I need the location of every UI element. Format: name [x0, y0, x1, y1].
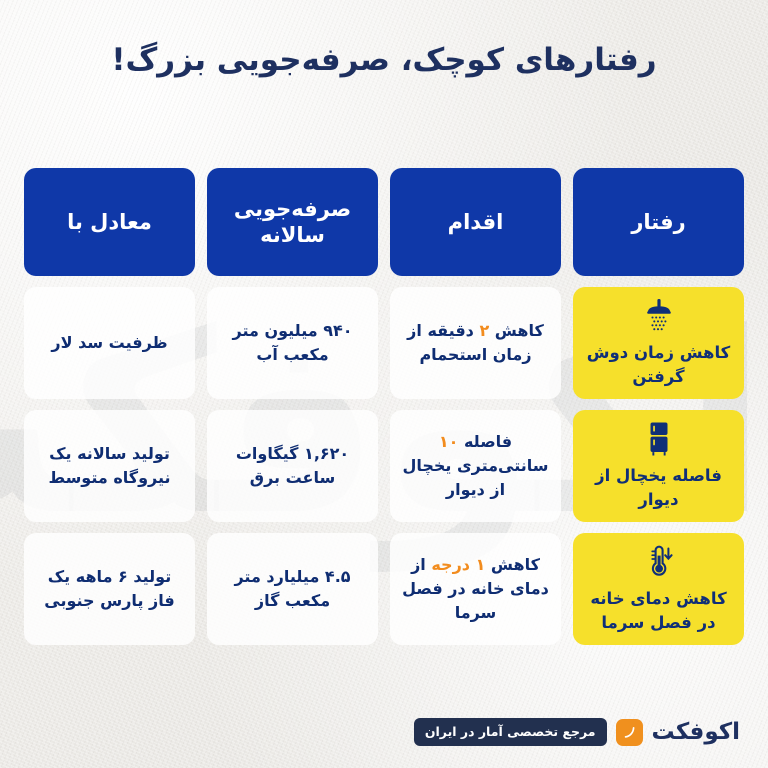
infographic-page: اکوفکت رفتارهای کوچک، صرفه‌جویی بزرگ! رف…: [0, 0, 768, 768]
action-prefix: فاصله: [458, 432, 512, 451]
behavior-label: کاهش دمای خانه در فصل سرما: [582, 587, 735, 635]
action-cell-shower: کاهش ۲ دقیقه از زمان استحمام: [390, 287, 561, 399]
action-number: ۱ درجه: [431, 555, 485, 574]
action-number: ۲: [479, 321, 489, 340]
action-text: فاصله ۱۰ سانتی‌متری یخچال از دیوار: [399, 430, 552, 502]
behavior-cell-temperature: کاهش دمای خانه در فصل سرما: [573, 533, 744, 645]
behavior-cell-shower: کاهش زمان دوش گرفتن: [573, 287, 744, 399]
shower-head-icon: [642, 298, 676, 334]
refrigerator-icon: [644, 421, 674, 457]
footer-tagline: مرجع تخصصی آمار در ایران: [414, 718, 607, 746]
brand-name: اکوفکت: [652, 719, 740, 745]
thermometer-down-icon: [642, 544, 676, 580]
equivalent-cell-south-pars: تولید ۶ ماهه یک فاز پارس جنوبی: [24, 533, 195, 645]
table-header-annual-saving: صرفه‌جویی سالانه: [207, 168, 378, 276]
behavior-cell-refrigerator: فاصله یخچال از دیوار: [573, 410, 744, 522]
equivalent-cell-power-plant: تولید سالانه یک نیروگاه متوسط: [24, 410, 195, 522]
action-cell-refrigerator: فاصله ۱۰ سانتی‌متری یخچال از دیوار: [390, 410, 561, 522]
action-text: کاهش ۲ دقیقه از زمان استحمام: [399, 319, 552, 367]
logo-icon: [616, 719, 643, 746]
footer-bar: اکوفکت مرجع تخصصی آمار در ایران: [28, 718, 740, 746]
behavior-label: کاهش زمان دوش گرفتن: [582, 341, 735, 389]
behavior-label: فاصله یخچال از دیوار: [582, 464, 735, 512]
action-suffix: سانتی‌متری یخچال از دیوار: [402, 456, 548, 499]
action-cell-temperature: کاهش ۱ درجه از دمای خانه در فصل سرما: [390, 533, 561, 645]
action-prefix: کاهش: [489, 321, 544, 340]
saving-cell-water: ۹۴۰ میلیون متر مکعب آب: [207, 287, 378, 399]
table-header-equivalent: معادل با: [24, 168, 195, 276]
table-header-behavior: رفتار: [573, 168, 744, 276]
page-title: رفتارهای کوچک، صرفه‌جویی بزرگ!: [0, 40, 768, 82]
saving-cell-gas: ۴.۵ میلیارد متر مکعب گاز: [207, 533, 378, 645]
action-text: کاهش ۱ درجه از دمای خانه در فصل سرما: [399, 553, 552, 625]
equivalent-cell-lar-dam: ظرفیت سد لار: [24, 287, 195, 399]
action-number: ۱۰: [439, 432, 459, 451]
table-header-action: اقدام: [390, 168, 561, 276]
saving-cell-electricity: ۱,۶۲۰ گیگاوات ساعت برق: [207, 410, 378, 522]
comparison-table: رفتار اقدام صرفه‌جویی سالانه معادل با: [24, 168, 744, 645]
action-prefix: کاهش: [485, 555, 540, 574]
